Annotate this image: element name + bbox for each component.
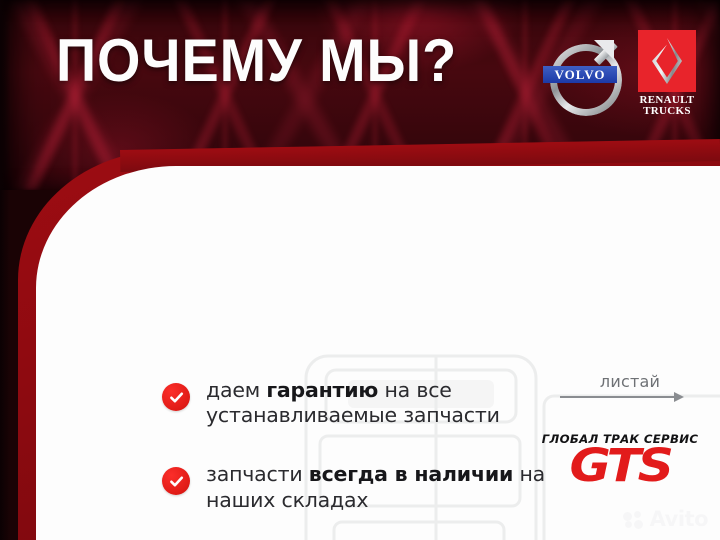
volvo-wordmark-band: VOLVO — [543, 66, 617, 83]
gts-wordmark: GTS — [530, 445, 709, 488]
avito-watermark: Avito — [623, 509, 708, 530]
renault-diamond-icon — [652, 38, 682, 84]
check-circle-icon — [162, 383, 190, 411]
volvo-logo-icon: VOLVO — [544, 38, 616, 110]
arrow-shaft — [560, 396, 678, 398]
gts-company-logo: ГЛОБАЛ ТРАК СЕРВИС GTS — [540, 432, 700, 488]
benefit-2-part-1: запчасти — [206, 462, 309, 486]
renault-plate — [638, 30, 696, 92]
list-item: запчасти всегда в наличии на наших склад… — [162, 462, 592, 512]
benefit-1-part-2: гарантию — [266, 378, 378, 402]
check-circle-icon — [162, 467, 190, 495]
brand-logos: VOLVO RENAULT TRUCKS — [544, 30, 696, 117]
swipe-hint-label: листай — [560, 372, 700, 391]
renault-wordmark: RENAULT TRUCKS — [638, 95, 696, 117]
list-item: даем гарантию на все устанавливаемые зап… — [162, 378, 592, 428]
renault-line2: TRUCKS — [638, 106, 696, 117]
avito-watermark-label: Avito — [650, 509, 708, 530]
arrow-right-icon — [560, 392, 700, 402]
swipe-hint[interactable]: листай — [560, 372, 700, 402]
benefit-text-1: даем гарантию на все устанавливаемые зап… — [206, 378, 592, 428]
benefits-list: даем гарантию на все устанавливаемые зап… — [162, 378, 592, 540]
volvo-wordmark: VOLVO — [555, 68, 606, 81]
benefit-2-part-2: всегда в наличии — [309, 462, 513, 486]
page-title: ПОЧЕМУ МЫ? — [56, 31, 457, 91]
renault-trucks-logo-icon: RENAULT TRUCKS — [638, 30, 696, 117]
avito-dots-icon — [623, 511, 645, 529]
promo-poster: ПОЧЕМУ МЫ? VOLVO RENAULT TRUCKS — [0, 0, 720, 540]
arrow-head — [674, 392, 684, 402]
benefit-1-part-1: даем — [206, 378, 266, 402]
